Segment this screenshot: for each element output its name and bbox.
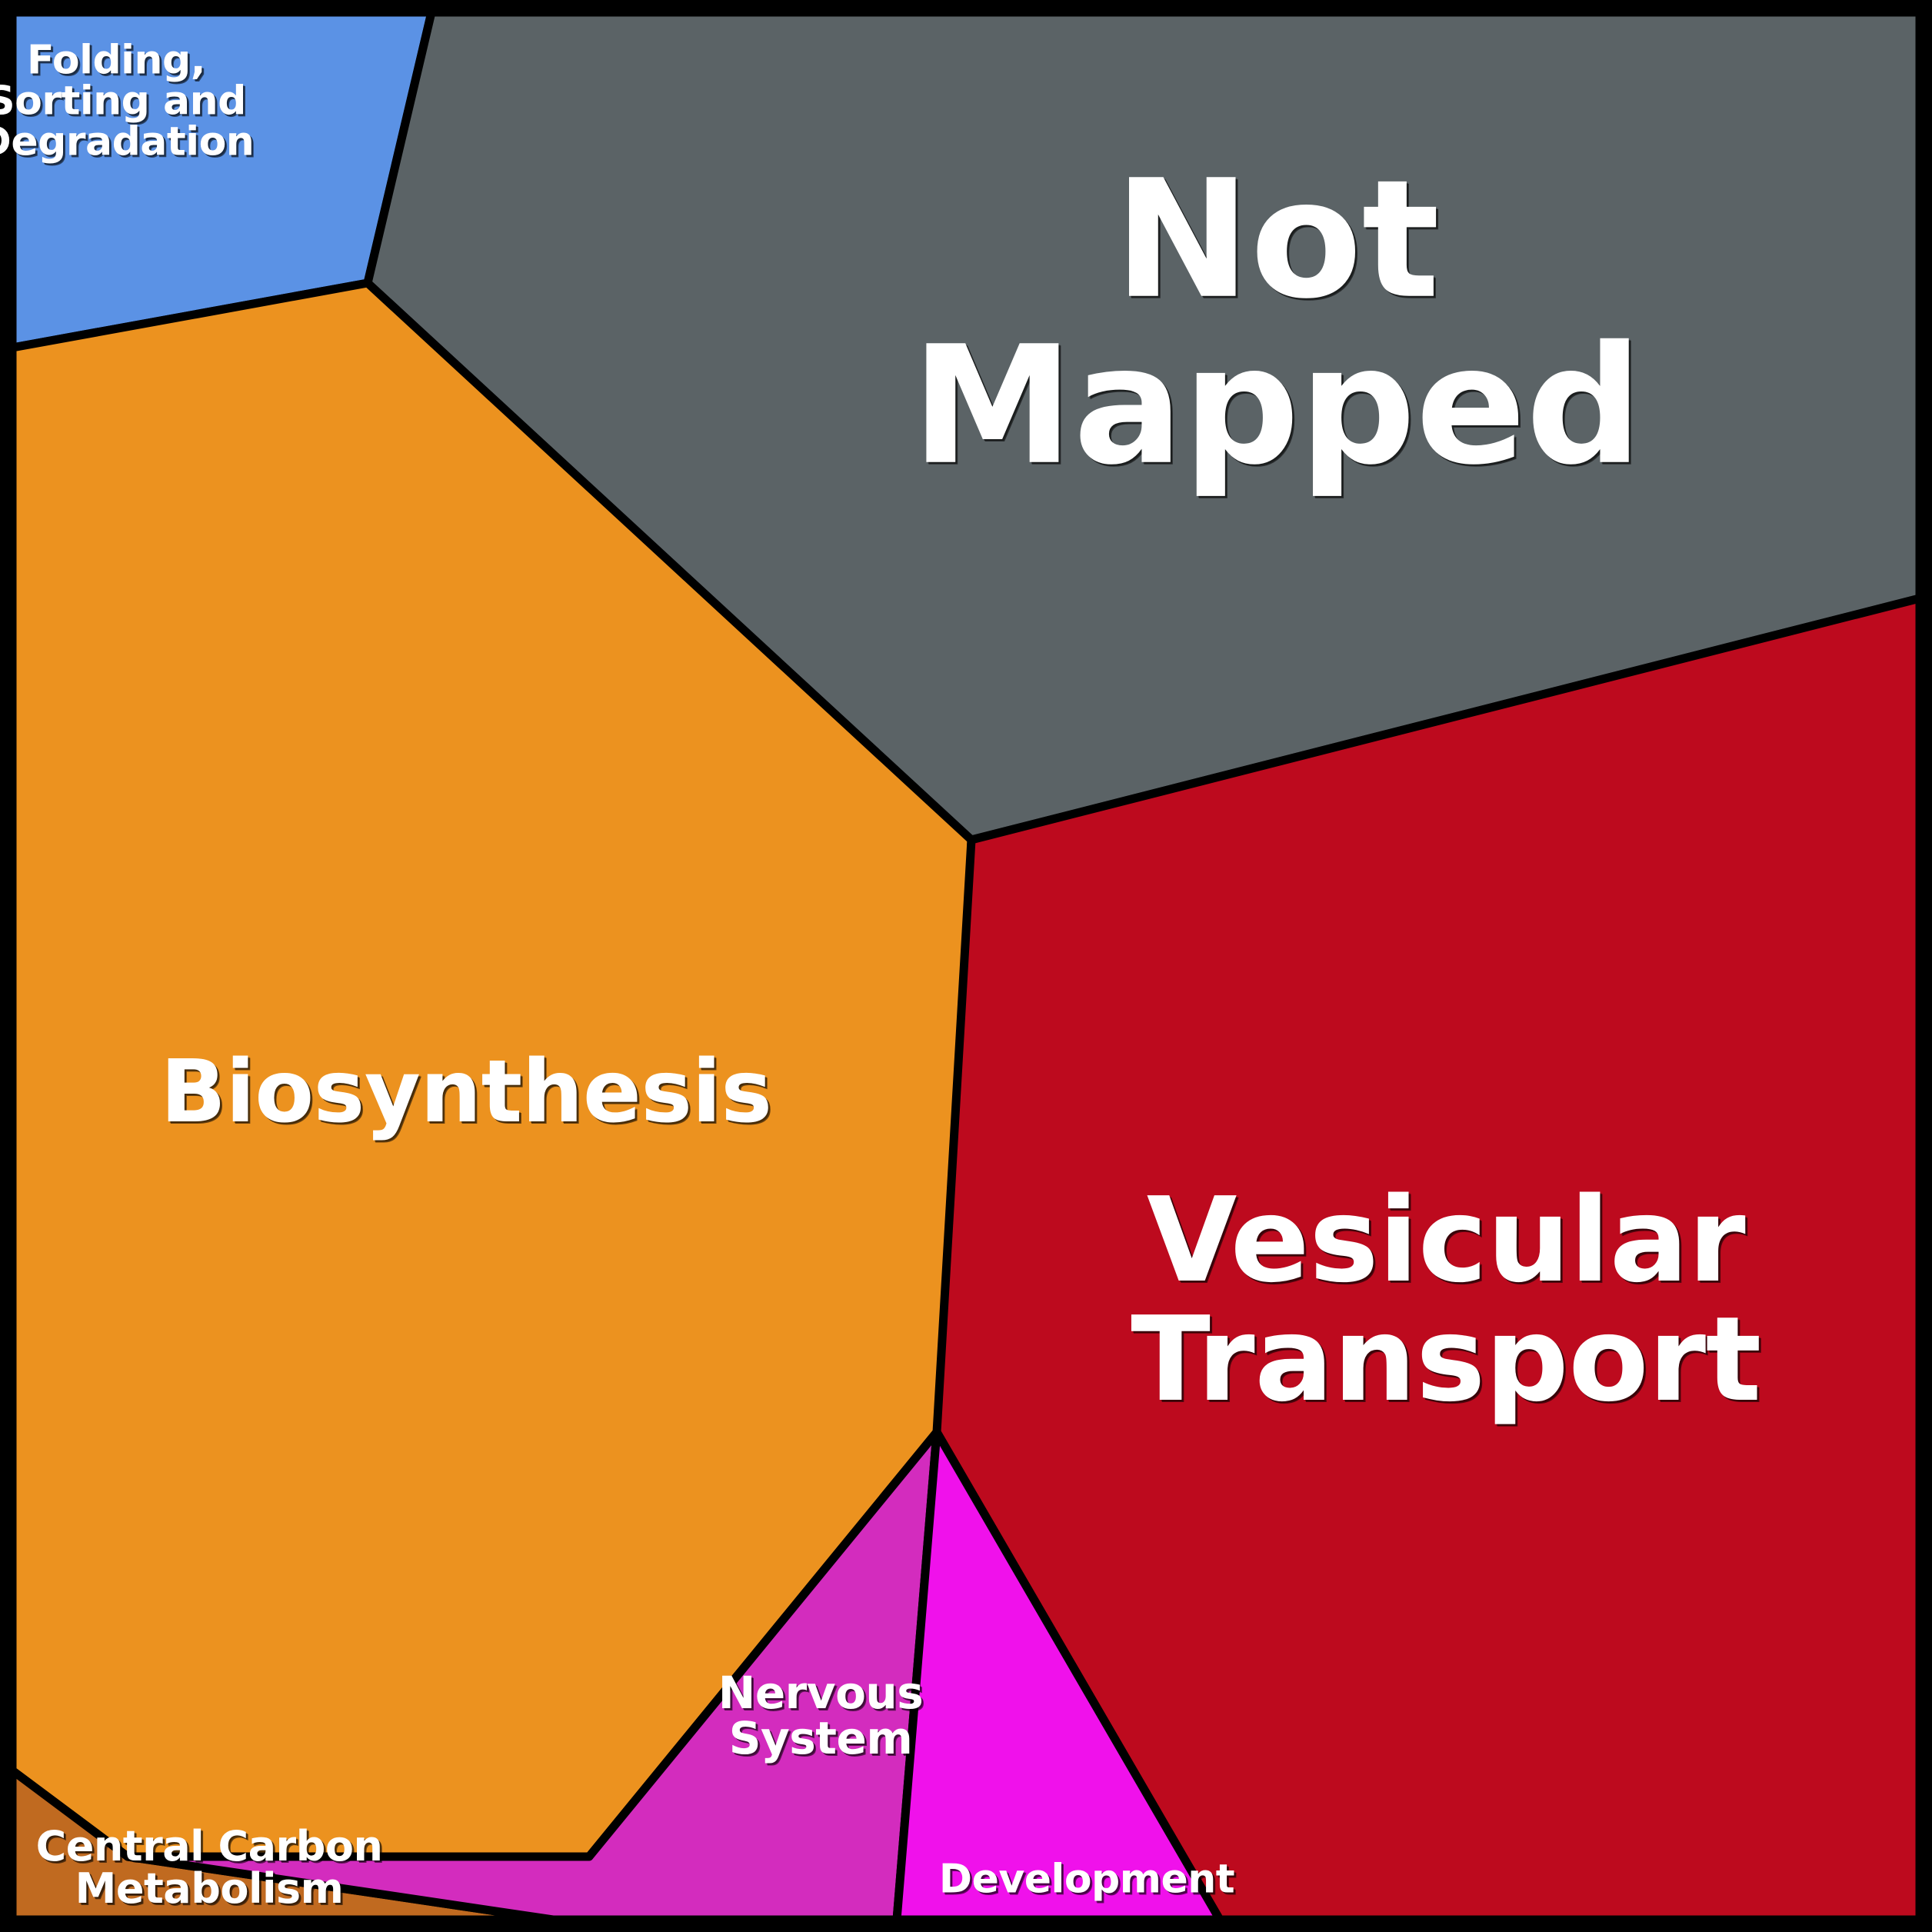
voronoi-treemap-figure: Folding, Sorting and DegradationNot Mapp…: [0, 0, 1932, 1932]
voronoi-cells-group: [12, 12, 1920, 1920]
voronoi-treemap-canvas: [0, 0, 1932, 1932]
